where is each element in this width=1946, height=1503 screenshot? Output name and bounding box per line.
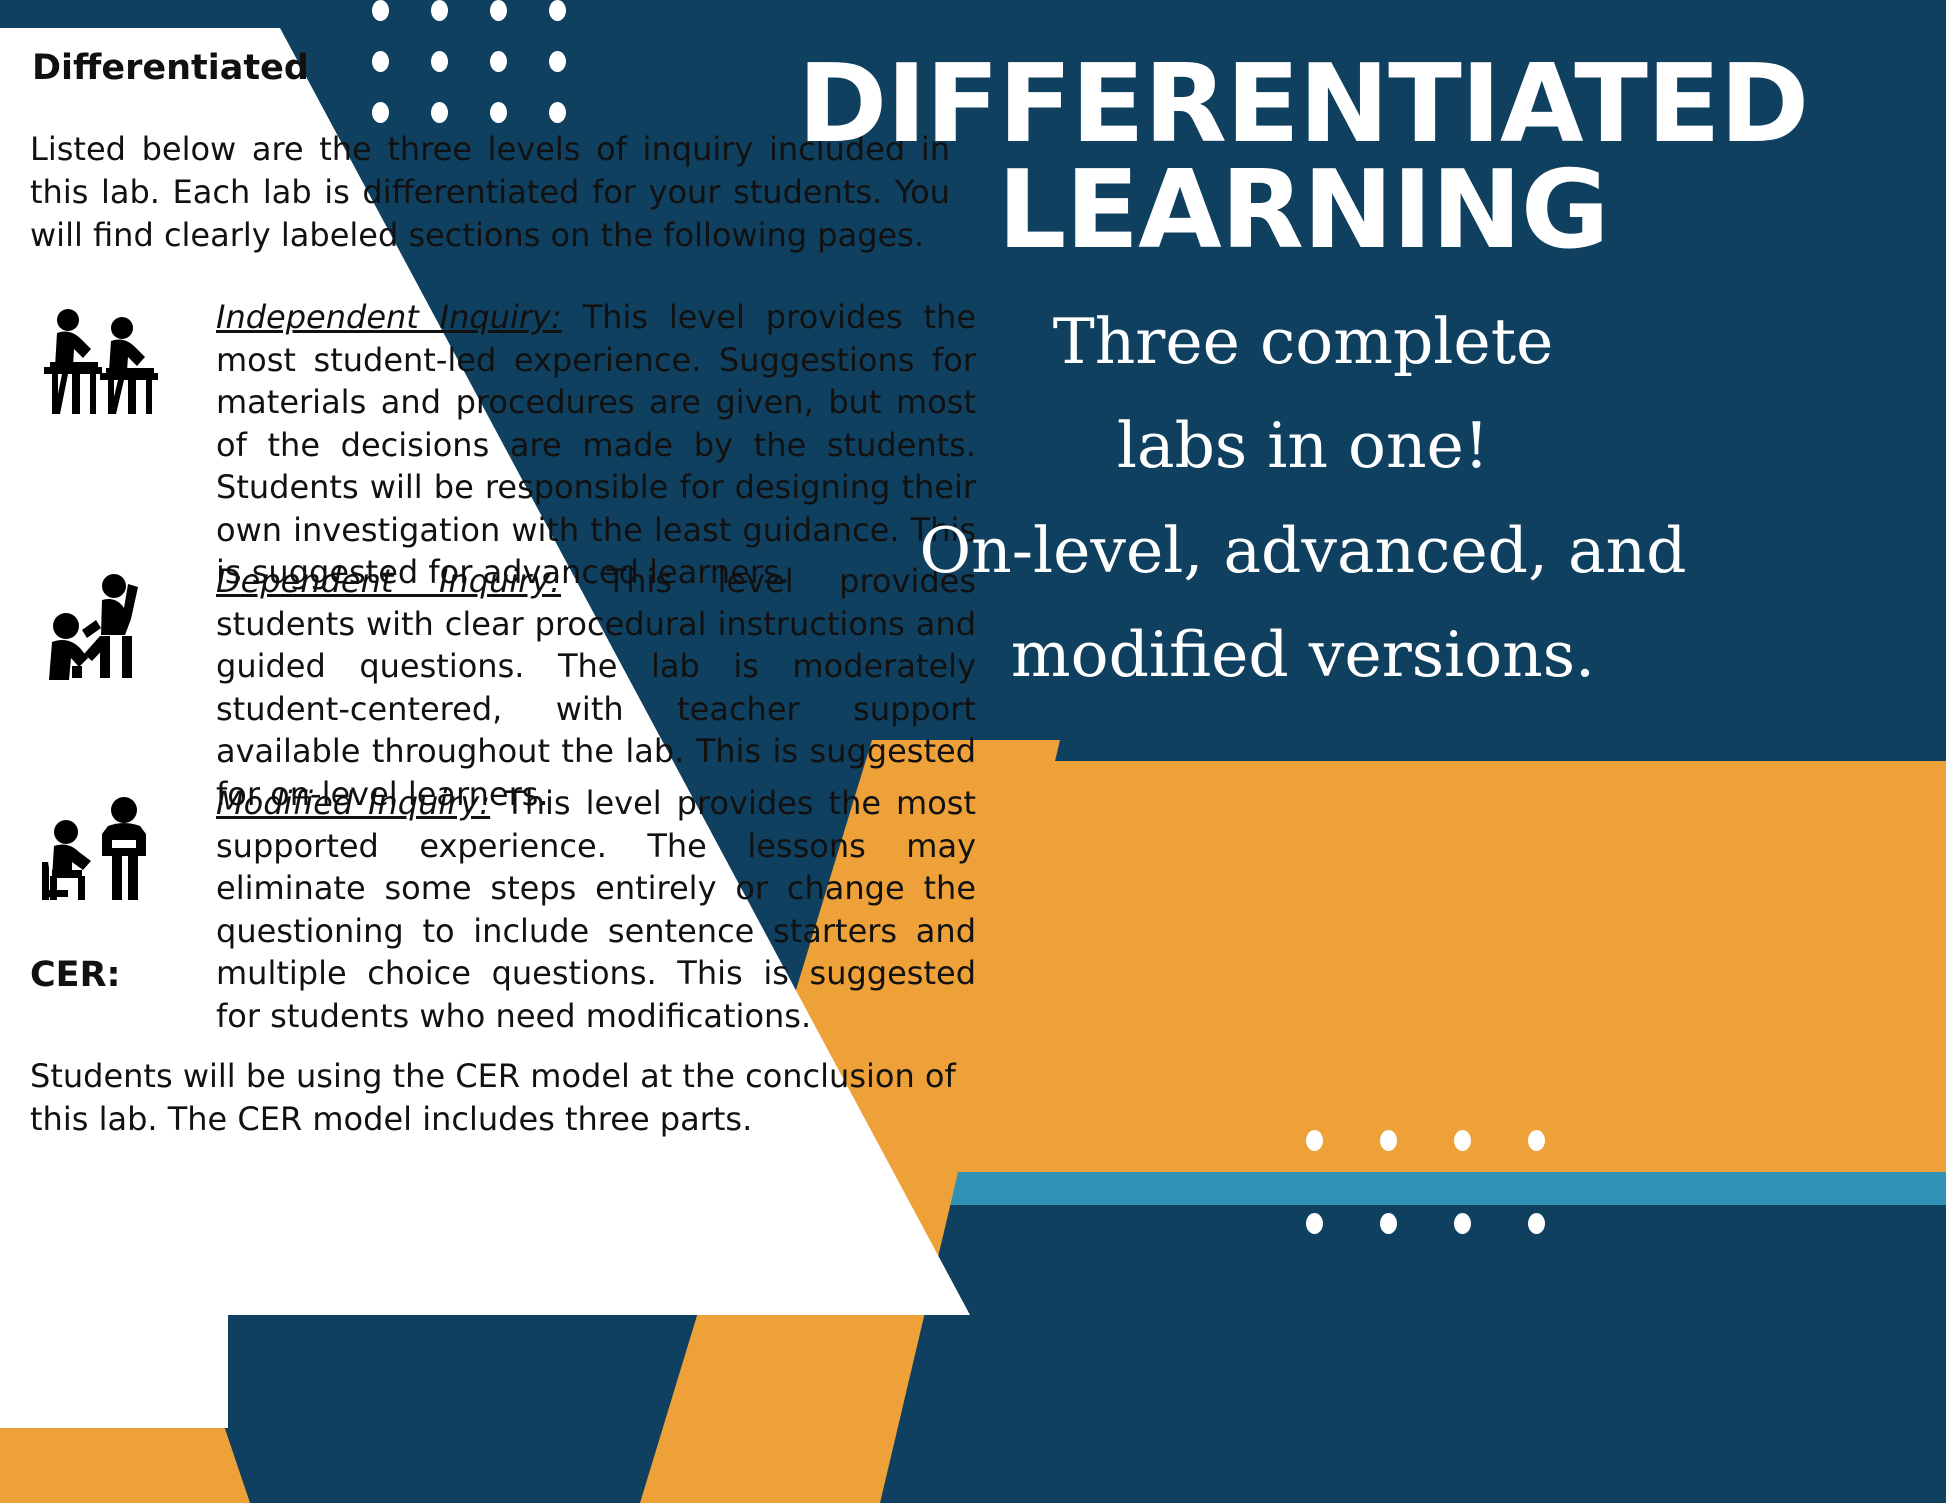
student-raising-hand-icon <box>38 570 178 680</box>
inquiry-item-lead: Dependent Inquiry: <box>216 562 561 600</box>
poster-canvas: Differentiated Listed below are the thre… <box>0 0 1946 1503</box>
hero-panel: DIFFERENTIATED LEARNING Three complete l… <box>660 40 1946 708</box>
hero-title-line-2: LEARNING <box>998 148 1609 273</box>
hero-title: DIFFERENTIATED LEARNING <box>660 40 1946 264</box>
dot-icon <box>1380 1213 1397 1234</box>
hero-subtitle: Three complete labs in one! On-level, ad… <box>660 290 1946 708</box>
hero-subtitle-line-4: modified versions. <box>696 603 1910 708</box>
cer-paragraph: Students will be using the CER model at … <box>30 1055 960 1141</box>
dot-icon <box>1306 1213 1323 1234</box>
document-heading: Differentiated <box>32 48 309 88</box>
cer-heading: CER: <box>30 955 121 995</box>
hero-subtitle-line-3: On-level, advanced, and <box>696 499 1910 604</box>
inquiry-item-lead: Independent Inquiry: <box>216 298 562 336</box>
hero-subtitle-line-1: Three complete <box>696 290 1910 395</box>
dot-grid-bottom-icon <box>1306 1130 1602 1296</box>
inquiry-item-lead: Modified Inquiry: <box>216 784 490 822</box>
hero-subtitle-line-2: labs in one! <box>696 394 1910 499</box>
dot-icon <box>1528 1213 1545 1234</box>
orange-band-upper <box>930 761 1946 1005</box>
inquiry-item-text: Modified Inquiry: This level provides th… <box>216 782 976 1037</box>
dot-icon <box>1306 1130 1323 1151</box>
two-students-at-desks-icon <box>38 306 178 416</box>
dot-icon <box>1528 1130 1545 1151</box>
dot-icon <box>1380 1130 1397 1151</box>
dot-icon <box>1454 1130 1471 1151</box>
dot-icon <box>1454 1213 1471 1234</box>
teacher-helping-seated-student-icon <box>38 792 178 902</box>
